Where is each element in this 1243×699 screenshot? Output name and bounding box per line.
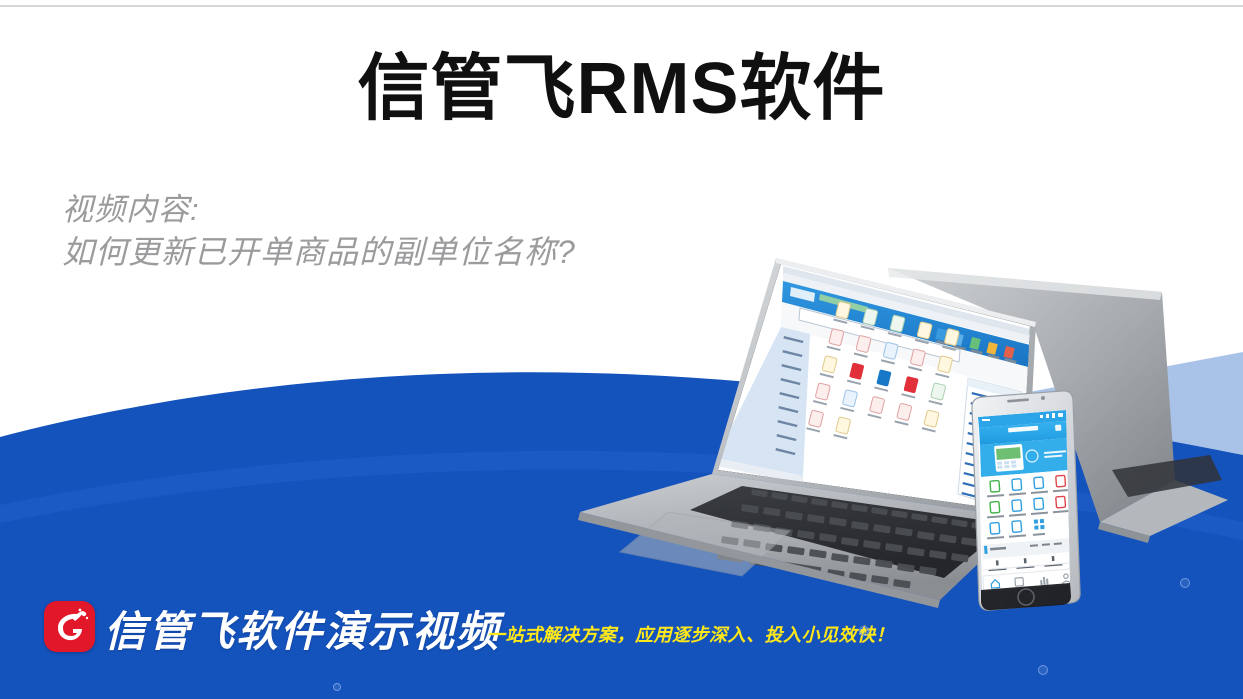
slide-canvas: 信管飞RMS软件 视频内容: 如何更新已开单商品的副单位名称? 信管飞软件演示视… (0, 0, 1243, 699)
decorative-dot-3 (1038, 665, 1048, 675)
decorative-dot-1 (859, 626, 869, 636)
xinguanfei-bird-logo-icon (44, 601, 95, 652)
subtitle-line-2: 如何更新已开单商品的副单位名称? (62, 231, 762, 273)
brand-tagline: 一站式解决方案，应用逐步深入、投入小见效快！ (487, 621, 894, 647)
decorative-dot-2 (1180, 578, 1190, 588)
phone-device (972, 391, 1080, 610)
video-description: 视频内容: 如何更新已开单商品的副单位名称? (62, 190, 762, 273)
brand-title: 信管飞软件演示视频 (104, 598, 500, 659)
subtitle-line-1: 视频内容: (62, 190, 762, 231)
page-title: 信管飞RMS软件 (0, 52, 1243, 128)
decorative-dot-4 (333, 683, 341, 691)
